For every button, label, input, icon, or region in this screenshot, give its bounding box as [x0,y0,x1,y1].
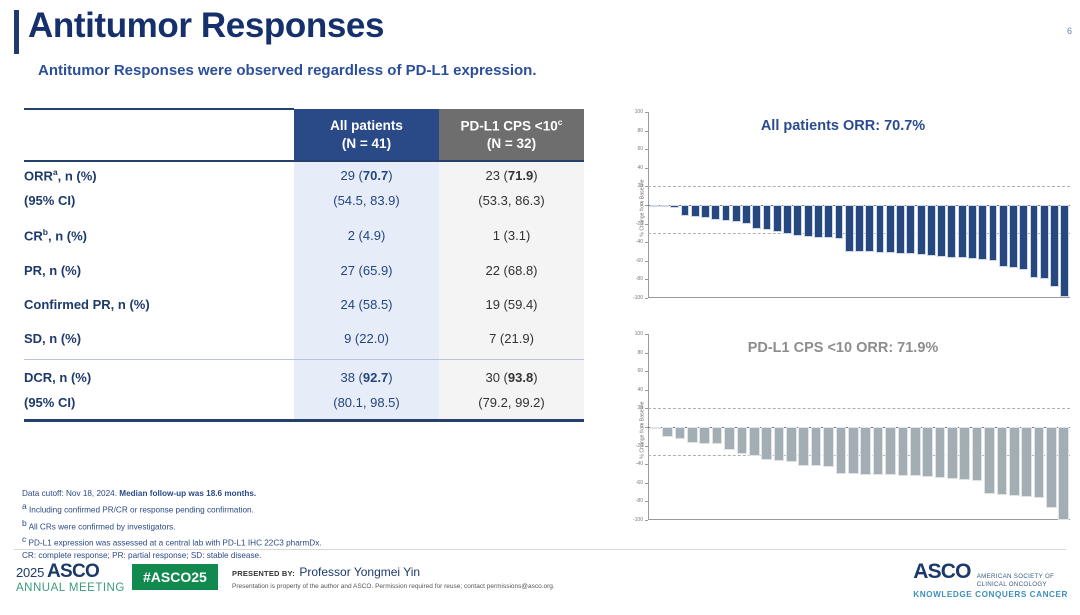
waterfall-bar [910,427,921,476]
y-tick-label: 40 [637,387,643,393]
table-row: Confirmed PR, n (%) 24 (58.5) 19 (59.4) [24,292,584,317]
waterfall-bar [927,205,936,256]
cell-pr-cps: 22 (68.8) [439,258,584,283]
waterfall-bar [1030,205,1039,278]
plot-area-pdl1-cps: 100806040200-20-40-60-80-100 [648,334,1070,520]
y-tick [645,464,648,465]
table-row: (95% CI) (80.1, 98.5) (79.2, 99.2) [24,390,584,419]
y-tick [645,242,648,243]
cell-cr-cps: 1 (3.1) [439,222,584,248]
table-row: (95% CI) (54.5, 83.9) (53.3, 86.3) [24,188,584,213]
waterfall-bar [848,427,859,474]
results-table: All patients (N = 41) PD-L1 CPS <10c (N … [24,108,584,419]
asco-society-line2: CLINICAL ONCOLOGY [977,581,1047,588]
waterfall-bar [1009,427,1020,496]
asco-tagline: KNOWLEDGE CONQUERS CANCER [913,590,1068,599]
waterfall-bar [972,427,983,481]
y-tick [645,149,648,150]
row-label-confirmed-pr: Confirmed PR, n (%) [24,292,294,317]
table-spacer [24,213,584,222]
asco-org-logo: ASCO AMERICAN SOCIETY OF CLINICAL ONCOLO… [913,560,1068,599]
waterfall-bar [712,427,723,444]
waterfall-bar [885,427,896,475]
table-row: SD, n (%) 9 (22.0) 7 (21.9) [24,326,584,351]
y-tick-label: 60 [637,146,643,152]
meeting-asco-wordmark: ASCO [47,561,99,582]
permission-note: Presentation is property of the author a… [232,583,555,590]
y-tick-label: -40 [636,239,643,245]
title-accent-bar [14,10,19,54]
waterfall-bar [958,205,967,258]
cell-confirmed-pr-all-patients: 24 (58.5) [294,292,439,317]
y-tick-label: 0 [640,202,643,208]
cell-dcr-ci-all-patients: (80.1, 98.5) [294,390,439,419]
waterfall-chart-all-patients: All patients ORR: 70.7% % Change from Ba… [612,108,1074,308]
waterfall-bar [699,427,710,444]
y-tick-label: 60 [637,368,643,374]
waterfall-bar [1019,205,1028,270]
row-label-dcr-ci: (95% CI) [24,390,294,419]
waterfall-bar [660,205,669,207]
waterfall-bar [898,427,909,476]
waterfall-bar [681,205,690,216]
y-tick [645,279,648,280]
hashtag-badge[interactable]: #ASCO25 [132,564,218,590]
waterfall-bar [763,205,772,230]
cell-pr-all-patients: 27 (65.9) [294,258,439,283]
table-spacer [24,249,584,258]
waterfall-bar [836,427,847,474]
cell-orr-ci-all-patients: (54.5, 83.9) [294,188,439,213]
waterfall-bar [691,205,700,217]
row-label-cr-text: CR [24,229,43,244]
cell-orr-cps: 23 (71.9) [439,161,584,188]
cell-confirmed-pr-cps: 19 (59.4) [439,292,584,317]
y-tick-label: -40 [636,461,643,467]
y-tick [645,501,648,502]
footnotes: Data cutoff: Nov 18, 2024. Median follow… [22,488,582,562]
asco-wordmark: ASCO [913,560,970,584]
waterfall-bar [873,427,884,475]
header-pdl1-line1: PD-L1 CPS <10 [461,118,558,133]
row-label-orr-text: ORR [24,168,53,183]
plot-area-all-patients: 100806040200-20-40-60-80-100 [648,112,1070,298]
waterfall-bar [662,427,673,437]
waterfall-bar [742,205,751,224]
waterfall-bar [1034,427,1045,498]
waterfall-bar [876,205,885,253]
waterfall-bar [937,205,946,257]
waterfall-bar [835,205,844,239]
y-tick [645,261,648,262]
waterfall-bar [1060,205,1069,297]
page-title: Antitumor Responses [28,6,384,46]
row-label-orr-rest: , n (%) [58,168,97,183]
y-tick-label: -80 [636,276,643,282]
y-tick-label: -60 [636,258,643,264]
waterfall-bar [1009,205,1018,268]
row-label-pr: PR, n (%) [24,258,294,283]
waterfall-bar [786,427,797,462]
waterfall-bar [670,205,679,208]
cell-sd-all-patients: 9 (22.0) [294,326,439,351]
waterfall-bar [855,205,864,252]
waterfall-bar [984,427,995,494]
y-tick-label: -100 [633,517,643,523]
waterfall-bar [774,427,785,461]
page-subtitle: Antitumor Responses were observed regard… [38,62,537,79]
header-pdl1-line2: (N = 32) [487,136,536,151]
table-header-blank [24,109,294,161]
row-label-cr: CRb, n (%) [24,222,294,248]
row-label-orr-ci: (95% CI) [24,188,294,213]
row-label-cr-rest: , n (%) [48,229,87,244]
slide-footer: 2025 ASCO ANNUAL MEETING #ASCO25 PRESENT… [0,556,1080,615]
waterfall-bar [989,205,998,261]
presented-by-label: PRESENTED BY: [232,569,295,578]
header-all-patients-line2: (N = 41) [342,136,391,151]
waterfall-bar [722,205,731,221]
waterfall-bar [947,427,958,479]
waterfall-bar [804,205,813,237]
bar-series-all-patients [649,112,1070,298]
y-tick [645,371,648,372]
y-tick-label: 20 [637,405,643,411]
waterfall-bar [1058,427,1069,520]
y-tick-label: 0 [640,424,643,430]
waterfall-bar [783,205,792,234]
page-number: 6 [1067,26,1072,36]
waterfall-bar [814,205,823,238]
y-tick-label: -100 [633,295,643,301]
row-label-dcr: DCR, n (%) [24,360,294,391]
y-tick-label: -80 [636,498,643,504]
waterfall-bar [761,427,772,460]
waterfall-bar [935,427,946,478]
cell-sd-cps: 7 (21.9) [439,326,584,351]
footer-divider [14,549,1066,550]
y-tick-label: 100 [635,331,643,337]
waterfall-bar [1046,427,1057,508]
table-bottom-rule [24,419,584,422]
meeting-year: 2025 [16,565,44,580]
waterfall-bar [922,427,933,477]
waterfall-bar [823,427,834,467]
cell-dcr-all-patients: 38 (92.7) [294,360,439,391]
y-tick-label: 80 [637,128,643,134]
table-row: DCR, n (%) 38 (92.7) 30 (93.8) [24,360,584,391]
waterfall-bar [650,205,659,207]
y-tick-label: -20 [636,221,643,227]
waterfall-bar [860,427,871,475]
waterfall-bar [793,205,802,236]
presenter-name: Professor Yongmei Yin [299,565,420,579]
waterfall-bar [732,205,741,222]
waterfall-bar [917,205,926,255]
waterfall-bar [997,427,1008,495]
waterfall-bar [798,427,809,466]
y-tick [645,168,648,169]
waterfall-bar [773,205,782,232]
waterfall-bar [1050,205,1059,287]
table-row: CRb, n (%) 2 (4.9) 1 (3.1) [24,222,584,248]
cell-orr-ci-cps: (53.3, 86.3) [439,188,584,213]
table-header-all-patients: All patients (N = 41) [294,109,439,161]
y-tick [645,390,648,391]
y-tick-label: -60 [636,480,643,486]
y-tick-label: 80 [637,350,643,356]
y-tick [645,483,648,484]
y-tick-label: -20 [636,443,643,449]
results-table-wrapper: All patients (N = 41) PD-L1 CPS <10c (N … [24,108,584,422]
waterfall-bar [1021,427,1032,497]
waterfall-bar [959,427,970,480]
presented-by-block: PRESENTED BY: Professor Yongmei Yin [232,563,420,581]
waterfall-bar [687,427,698,443]
table-header-row: All patients (N = 41) PD-L1 CPS <10c (N … [24,109,584,161]
waterfall-bar [675,427,686,439]
cell-dcr-ci-cps: (79.2, 99.2) [439,390,584,419]
waterfall-bar [737,427,748,454]
cell-dcr-cps: 30 (93.8) [439,360,584,391]
y-tick-label: 20 [637,183,643,189]
y-tick [645,131,648,132]
waterfall-bar [650,427,661,429]
y-tick [645,446,648,447]
footnote-b: b All CRs were confirmed by investigator… [22,517,582,534]
header-all-patients-line1: All patients [330,118,403,133]
waterfall-bar [886,205,895,253]
y-tick [645,112,648,113]
y-tick-label: 100 [635,109,643,115]
waterfall-bar [749,427,760,456]
row-label-sd: SD, n (%) [24,326,294,351]
waterfall-bar [845,205,854,252]
footnote-a: a Including confirmed PR/CR or response … [22,500,582,517]
waterfall-bar [865,205,874,252]
y-tick [645,224,648,225]
waterfall-bar [978,205,987,260]
waterfall-bar [811,427,822,466]
meeting-subtitle: ANNUAL MEETING [16,582,125,594]
y-tick [645,353,648,354]
row-label-orr: ORRa, n (%) [24,161,294,188]
slide: Antitumor Responses Antitumor Responses … [0,0,1080,615]
table-spacer [24,317,584,326]
table-header-pdl1-cps: PD-L1 CPS <10c (N = 32) [439,109,584,161]
cell-orr-all-patients: 29 (70.7) [294,161,439,188]
y-tick [645,334,648,335]
waterfall-bar [968,205,977,259]
waterfall-bar [711,205,720,220]
asco-society-line1: AMERICAN SOCIETY OF [977,573,1054,580]
waterfall-bar [752,205,761,229]
table-row: PR, n (%) 27 (65.9) 22 (68.8) [24,258,584,283]
waterfall-bar [1040,205,1049,279]
bar-series-pdl1-cps [649,334,1070,520]
table-spacer [24,351,584,360]
waterfall-bar [947,205,956,258]
waterfall-bar [824,205,833,238]
header-pdl1-superscript: c [558,117,563,127]
waterfall-bar [701,205,710,218]
y-tick [645,520,648,521]
waterfall-bar [896,205,905,254]
waterfall-bar [906,205,915,254]
cell-cr-all-patients: 2 (4.9) [294,222,439,248]
waterfall-chart-pdl1-cps: PD-L1 CPS <10 ORR: 71.9% % Change from B… [612,330,1074,530]
y-tick-label: 40 [637,165,643,171]
waterfall-bar [999,205,1008,267]
y-tick [645,298,648,299]
waterfall-bar [724,427,735,450]
table-row: ORRa, n (%) 29 (70.7) 23 (71.9) [24,161,584,188]
footnote-data-cutoff: Data cutoff: Nov 18, 2024. Median follow… [22,488,582,500]
table-spacer [24,283,584,292]
asco-annual-meeting-logo: 2025 ASCO ANNUAL MEETING [16,561,125,594]
footnote-c: c PD-L1 expression was assessed at a cen… [22,533,582,550]
